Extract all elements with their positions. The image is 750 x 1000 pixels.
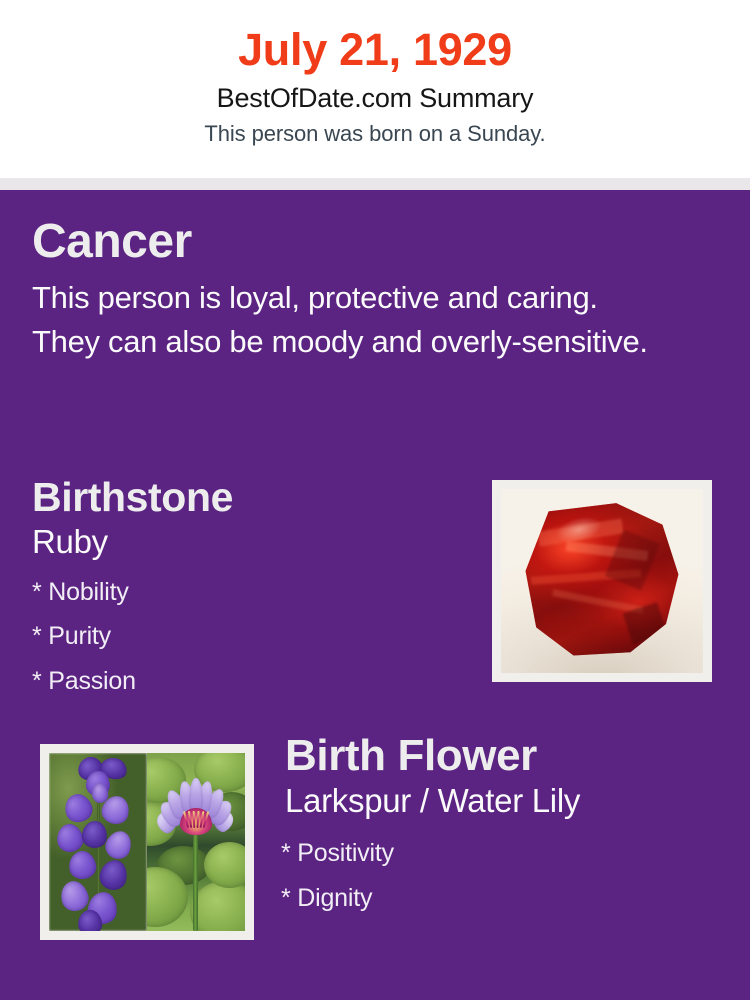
page-title: July 21, 1929: [0, 24, 750, 76]
ruby-photo-scene: [501, 489, 703, 673]
birth-flower-heading: Birth Flower: [281, 732, 721, 780]
born-day-note: This person was born on a Sunday.: [0, 119, 750, 150]
list-item: * Dignity: [281, 876, 721, 921]
list-item: * Positivity: [281, 831, 721, 876]
ruby-crystal-shape: [513, 498, 691, 664]
ruby-facet: [605, 529, 660, 590]
birthstone-heading: Birthstone: [32, 475, 462, 520]
birthstone-section: Birthstone Ruby * Nobility * Purity * Pa…: [32, 475, 462, 704]
birthstone-trait-list: * Nobility * Purity * Passion: [32, 570, 462, 704]
birthstone-image: [492, 480, 712, 682]
water-lily-bloom: [159, 781, 233, 859]
ruby-facet: [552, 589, 644, 613]
summary-card: July 21, 1929 BestOfDate.com Summary Thi…: [0, 0, 750, 1000]
birth-flower-image-inner: [49, 753, 245, 931]
flower-photo-split: [49, 753, 245, 931]
birth-flower-trait-list: * Positivity * Dignity: [281, 831, 721, 921]
ruby-highlight: [554, 513, 604, 547]
zodiac-section: Cancer This person is loyal, protective …: [32, 217, 652, 364]
birth-flower-value: Larkspur / Water Lily: [281, 781, 721, 821]
birthstone-image-inner: [501, 489, 703, 673]
birth-flower-section: Birth Flower Larkspur / Water Lily * Pos…: [281, 732, 721, 920]
zodiac-sign-name: Cancer: [32, 217, 652, 267]
ruby-facet: [541, 614, 604, 643]
list-item: * Nobility: [32, 570, 462, 615]
larkspur-photo: [49, 753, 147, 931]
card-header: July 21, 1929 BestOfDate.com Summary Thi…: [0, 0, 750, 178]
list-item: * Purity: [32, 614, 462, 659]
birth-flower-image: [40, 744, 254, 940]
zodiac-description: This person is loyal, protective and car…: [32, 276, 652, 364]
birthstone-value: Ruby: [32, 522, 462, 562]
lily-center: [180, 808, 211, 835]
lily-stamen: [196, 811, 199, 828]
site-summary-label: BestOfDate.com Summary: [0, 80, 750, 116]
lily-stamen: [203, 811, 209, 827]
header-divider: [0, 178, 750, 190]
lily-stamen: [193, 811, 195, 828]
list-item: * Passion: [32, 659, 462, 704]
water-lily-photo: [147, 753, 245, 931]
